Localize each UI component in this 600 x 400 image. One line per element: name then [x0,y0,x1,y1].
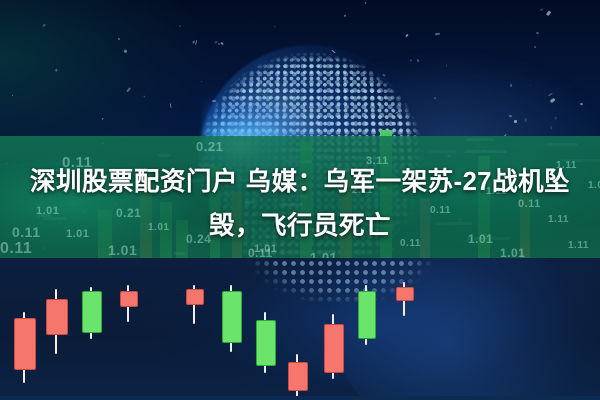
particle-speck [220,42,224,45]
particle-speck [549,98,555,103]
particle-speck [143,95,145,98]
particle-speck [534,46,536,48]
candlestick [82,258,100,400]
candlestick-body [222,291,242,343]
candlestick [186,258,202,400]
particle-speck [446,64,448,67]
particle-speck [435,33,440,35]
candlestick [14,258,34,400]
ticker-dash [280,148,315,151]
candlestick [324,258,342,400]
particle-speck [218,43,221,46]
particle-speck [382,74,385,76]
candlestick-body [256,320,276,366]
particle-speck [536,32,539,35]
particle-speck [364,2,366,4]
particle-speck [42,23,46,27]
candlestick-body [120,291,138,308]
particle-speck [541,8,544,10]
particle-speck [124,50,128,53]
candlestick-body [358,291,376,339]
particle-speck [411,59,412,61]
candlestick [120,258,136,400]
headline-line-1: 深圳股票配资门户 乌媒：乌军一架苏-27战机坠 [30,168,570,196]
particle-speck [12,95,14,97]
ticker-number: 1.01 [310,250,337,258]
particle-speck [329,90,333,94]
news-banner-image: 0.111.010.110.111.010.211.010.211.013.11… [0,0,600,400]
ticker-dash [313,154,334,157]
particle-speck [343,87,345,90]
particle-speck [294,72,297,74]
particle-speck [200,81,202,82]
ticker-dash [466,138,494,141]
particle-speck [251,103,255,107]
candlestick-body [82,291,102,333]
candlestick [396,258,412,400]
particle-speck [359,87,361,89]
candlestick-body [46,299,68,335]
particle-speck [322,99,325,104]
particle-speck [179,25,181,27]
particle-speck [344,14,346,17]
ticker-dash [465,150,507,153]
ticker-dash [174,252,185,255]
panel-bottom-rim [0,396,600,400]
particle-speck [546,10,551,15]
particle-speck [331,50,336,54]
candlestick [256,258,274,400]
particle-speck [548,92,553,96]
candlestick-body [186,289,204,306]
particle-speck [580,103,583,106]
ticker-dash [158,154,171,157]
candlestick [288,258,306,400]
headline-line-2: 毁，飞行员死亡 [0,204,600,248]
candlestick [46,258,66,400]
particle-speck [510,84,512,87]
particle-speck [530,85,532,87]
candlestick [358,258,374,400]
ticker-dash [427,150,457,153]
candlestick-body [396,287,414,302]
candlestick-body [288,362,308,391]
particle-speck [417,59,420,63]
particle-speck [126,87,130,92]
particle-speck [195,40,197,45]
particle-speck [433,96,436,99]
candlestick-body [324,324,344,372]
ticker-dash [547,143,578,146]
particle-speck [55,69,58,73]
particle-speck [212,100,216,102]
particle-speck [118,37,120,39]
candlestick [222,258,240,400]
candlestick-chart-panel [0,258,600,400]
page-title: 深圳股票配资门户 乌媒：乌军一架苏-27战机坠 毁，飞行员死亡 [0,160,600,248]
ticker-number: 0.21 [196,139,223,154]
particle-speck [169,103,171,108]
particle-speck [273,25,276,28]
candlestick-body [14,318,36,370]
particle-speck [406,33,409,36]
